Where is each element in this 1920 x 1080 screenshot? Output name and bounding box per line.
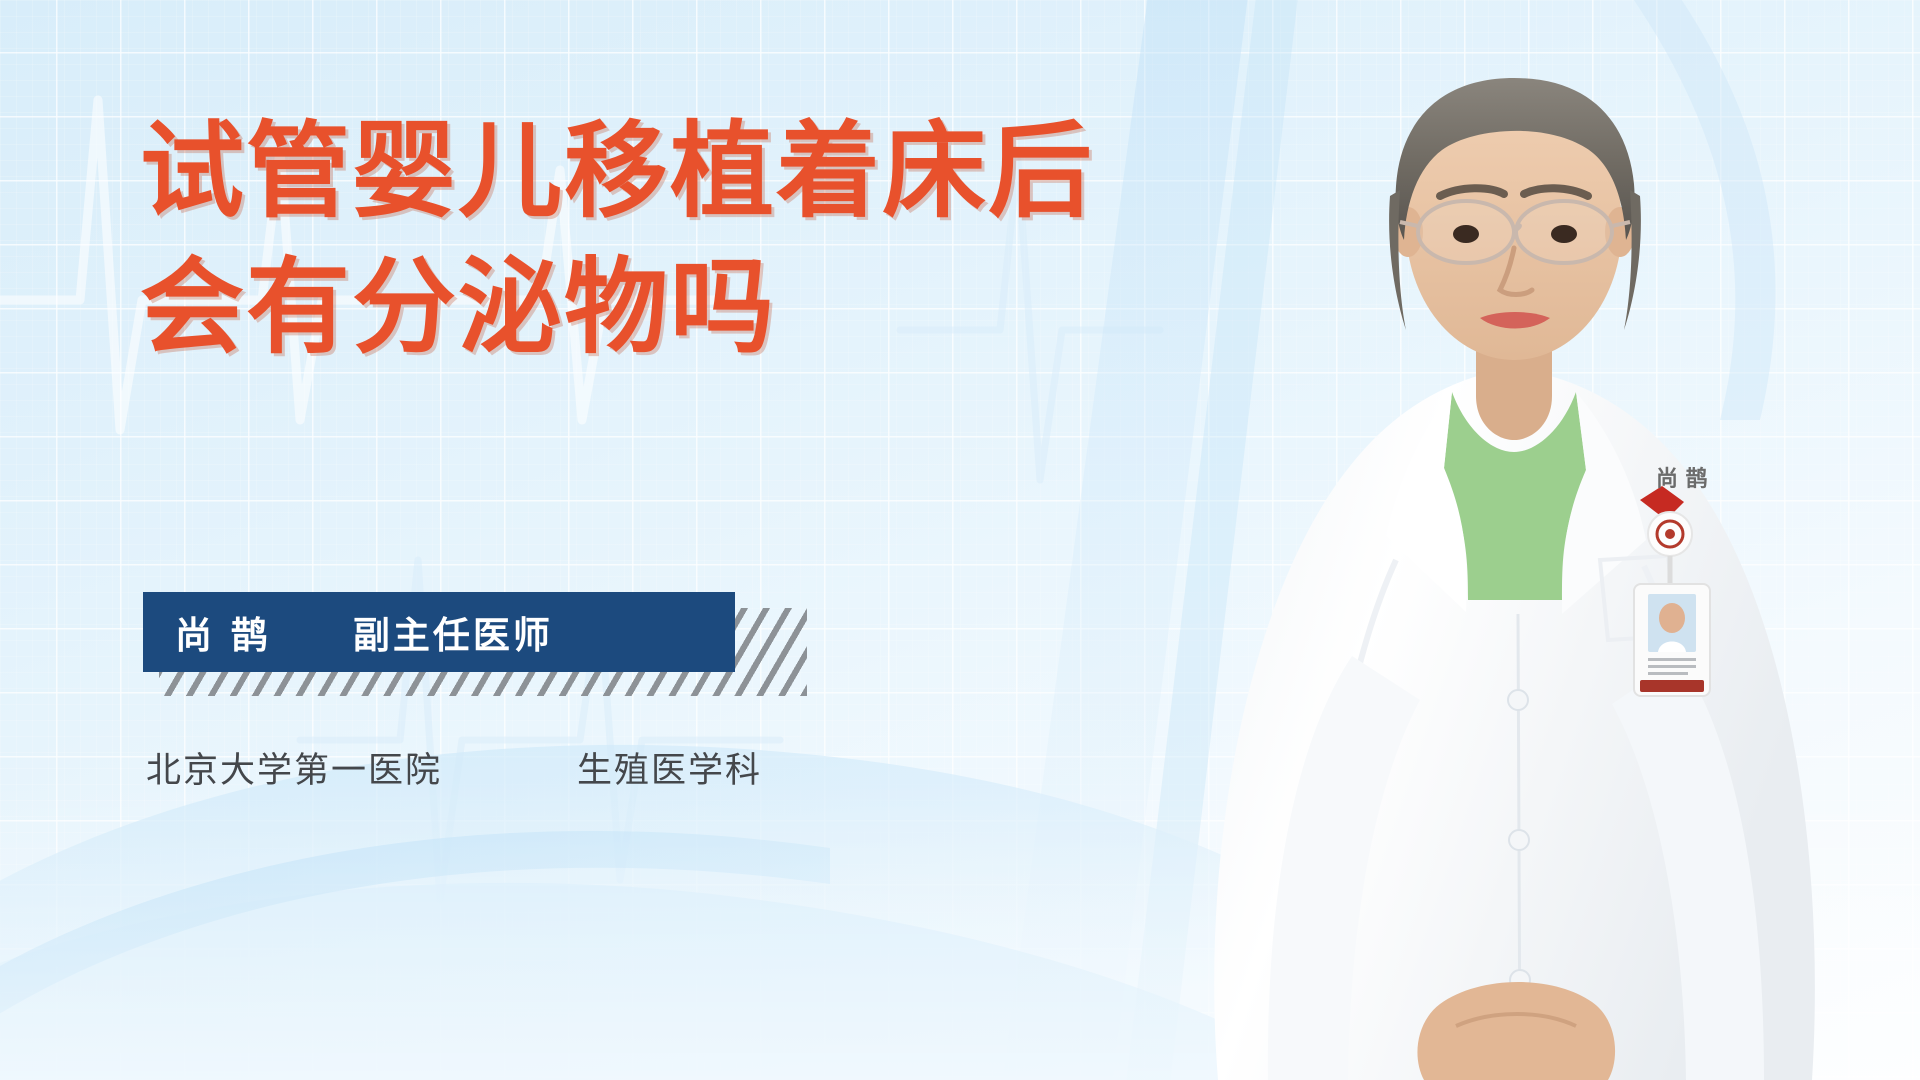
eye-right <box>1551 225 1577 243</box>
title-card: 尚 鹊 试管婴儿移植着床后 会有分泌物吗 尚 鹊 副主任医师 北京大学第一医院 … <box>0 0 1920 1080</box>
doctor-name: 尚 鹊 <box>175 605 271 659</box>
hospital-name: 北京大学第一医院 <box>146 742 442 793</box>
affiliation-row: 北京大学第一医院 生殖医学科 <box>146 742 762 793</box>
id-card-photo-face <box>1659 603 1685 633</box>
id-card-text-line <box>1648 672 1688 675</box>
coat-button <box>1508 690 1528 710</box>
id-card-text-line <box>1648 658 1696 661</box>
eye-left <box>1453 225 1479 243</box>
id-card-text-line <box>1648 665 1696 668</box>
badge-reel-center <box>1665 529 1675 539</box>
department-name: 生殖医学科 <box>577 742 762 793</box>
title-line-1: 试管婴儿移植着床后 <box>140 112 1300 230</box>
doctor-rank: 副主任医师 <box>353 605 553 659</box>
title-block: 试管婴儿移植着床后 会有分泌物吗 <box>140 112 1300 366</box>
badge-bar: 尚 鹊 副主任医师 <box>143 592 735 672</box>
doctor-name-badge: 尚 鹊 副主任医师 <box>143 592 735 672</box>
coat-button <box>1509 830 1529 850</box>
title-line-2: 会有分泌物吗 <box>140 248 1300 366</box>
coat-embroidery-text: 尚 鹊 <box>1656 466 1708 492</box>
id-card-hospital-strip <box>1640 680 1704 692</box>
